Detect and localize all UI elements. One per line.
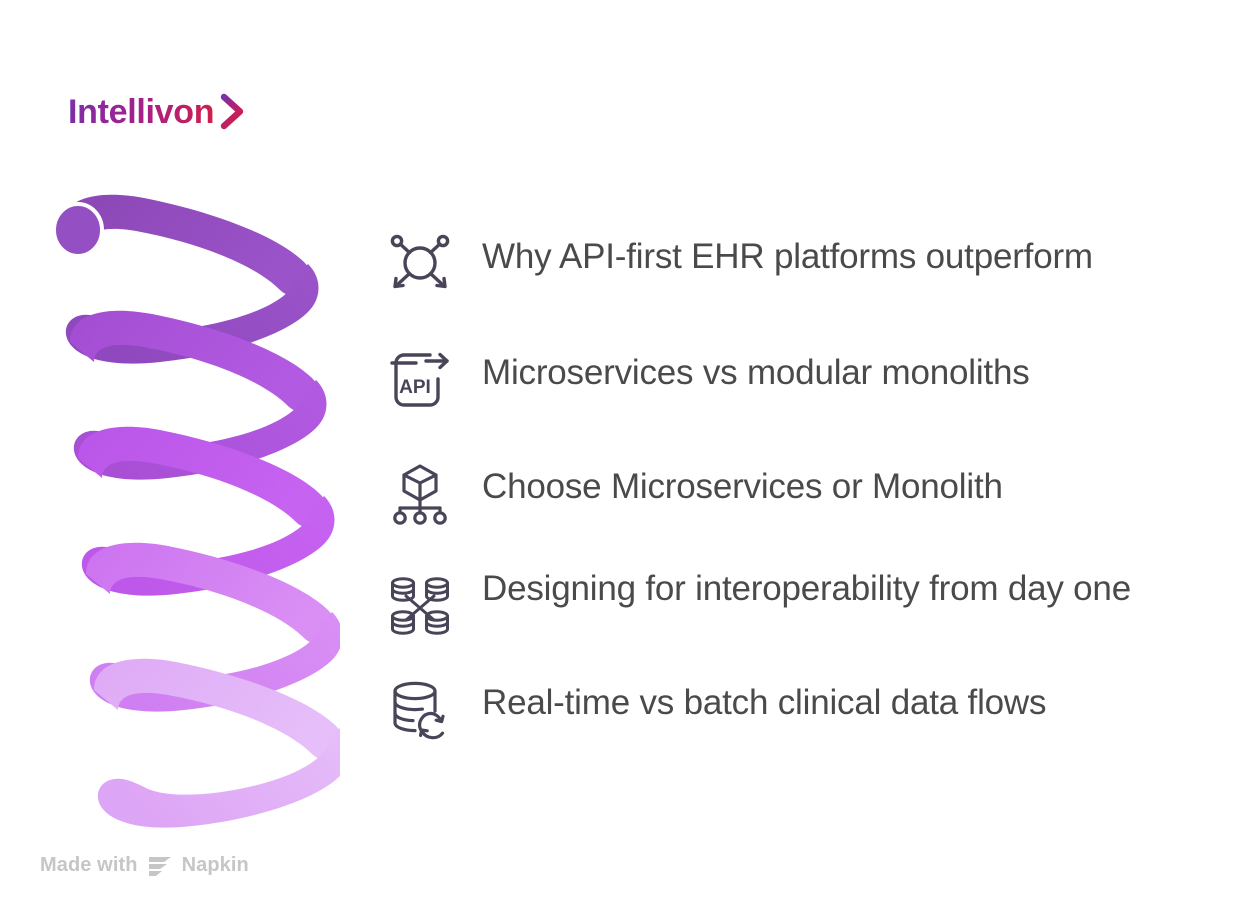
cube-hierarchy-icon [378, 458, 462, 530]
list-item[interactable]: Designing for interoperability from day … [378, 566, 1208, 652]
spiral-coil-graphic [40, 190, 340, 840]
footer-brand: Napkin [182, 854, 249, 877]
chevron-right-icon [220, 93, 244, 131]
footer-prefix: Made with [40, 854, 138, 877]
list-item[interactable]: API Microservices vs modular monoliths [378, 344, 1208, 430]
brand-name: Intellivon [68, 95, 214, 129]
svg-text:API: API [399, 377, 431, 398]
list-item[interactable]: Why API-first EHR platforms outperform [378, 228, 1208, 314]
list-item[interactable]: Choose Microservices or Monolith [378, 458, 1208, 544]
list-item-label: Designing for interoperability from day … [462, 566, 1208, 612]
spiral-coil-svg [40, 190, 340, 840]
four-databases-crossed-icon [378, 566, 462, 648]
list-item-label: Why API-first EHR platforms outperform [462, 228, 1208, 280]
database-sync-icon [378, 674, 462, 746]
list-item-label: Microservices vs modular monoliths [462, 344, 1208, 396]
api-network-node-icon [378, 228, 462, 300]
list-item-label: Real-time vs batch clinical data flows [462, 674, 1208, 726]
made-with-napkin-footer[interactable]: Made with Napkin [40, 854, 249, 877]
api-document-arrow-icon: API [378, 344, 462, 416]
napkin-logo-icon [147, 855, 173, 877]
brand-logo[interactable]: Intellivon [68, 92, 244, 131]
list-item[interactable]: Real-time vs batch clinical data flows [378, 674, 1208, 760]
list-item-label: Choose Microservices or Monolith [462, 458, 1208, 510]
topic-list: Why API-first EHR platforms outperform A… [378, 228, 1208, 760]
